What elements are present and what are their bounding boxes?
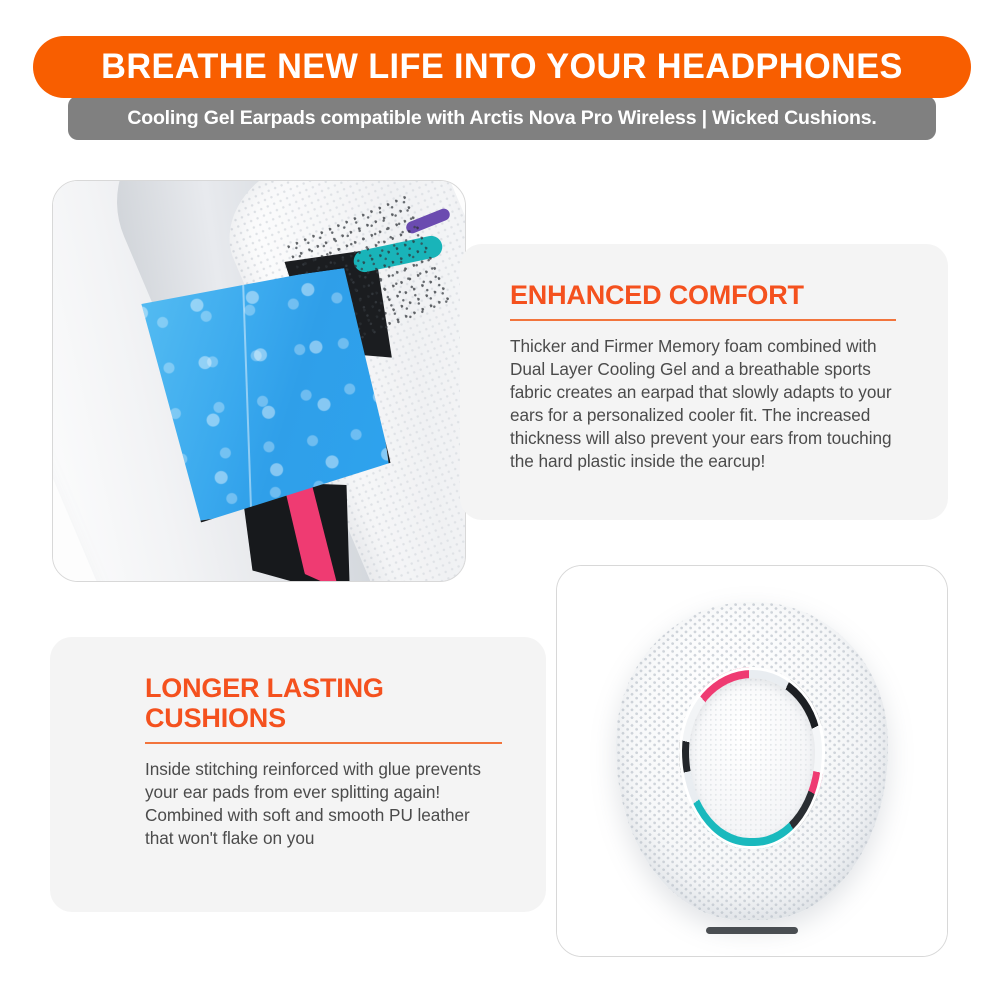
earpad-base-shadow [706,927,798,934]
banner-title: BREATHE NEW LIFE INTO YOUR HEADPHONES [101,47,903,87]
feature-title-longer-lasting-cushions: LONGER LASTING CUSHIONS [145,673,502,733]
infographic-page: Cooling Gel Earpads compatible with Arct… [0,0,1000,1000]
subtitle-text: Cooling Gel Earpads compatible with Arct… [127,107,876,130]
earpad-front-illustration [557,566,947,956]
header: Cooling Gel Earpads compatible with Arct… [0,0,1000,150]
gel-layer-photo [52,180,466,582]
title-divider-rule [145,742,502,744]
banner-title-pill: BREATHE NEW LIFE INTO YOUR HEADPHONES [33,36,971,98]
feature-title-enhanced-comfort: ENHANCED COMFORT [510,280,896,310]
earpad-ear-opening [689,678,815,838]
earpad-honeycomb-body [616,602,888,920]
feature-card-enhanced-comfort: ENHANCED COMFORT Thicker and Firmer Memo… [460,244,948,520]
title-divider-rule [510,319,896,321]
feature-body-enhanced-comfort: Thicker and Firmer Memory foam combined … [510,335,896,472]
feature-card-content: LONGER LASTING CUSHIONS Inside stitching… [50,637,546,850]
feature-card-longer-lasting-cushions: LONGER LASTING CUSHIONS Inside stitching… [50,637,546,912]
gel-layer-illustration [53,181,465,581]
feature-body-longer-lasting-cushions: Inside stitching reinforced with glue pr… [145,758,502,850]
earpad-front-photo [556,565,948,957]
feature-card-content: ENHANCED COMFORT Thicker and Firmer Memo… [460,244,948,472]
subtitle-bar: Cooling Gel Earpads compatible with Arct… [68,96,936,140]
